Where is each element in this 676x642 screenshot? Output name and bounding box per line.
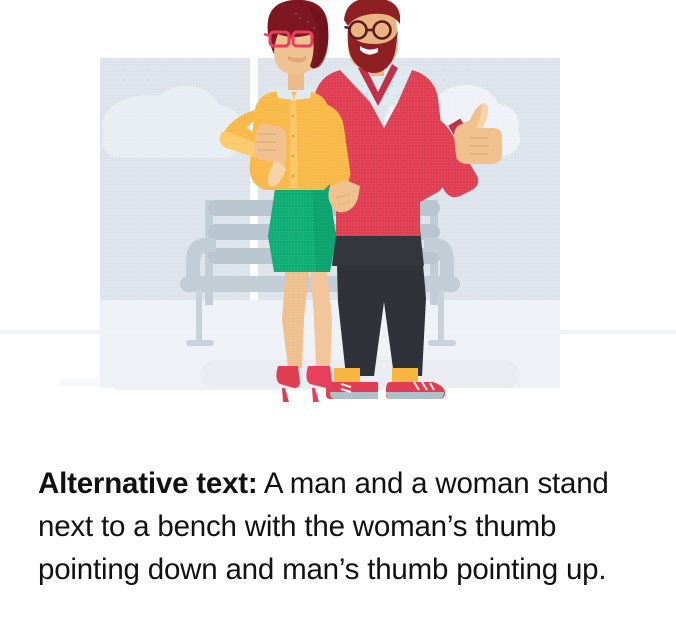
man-head bbox=[344, 0, 400, 73]
page-root: Alternative text: A man and a woman stan… bbox=[0, 0, 676, 642]
ground-texture bbox=[60, 378, 110, 386]
illustration-svg bbox=[0, 0, 676, 415]
alternative-text-caption: Alternative text: A man and a woman stan… bbox=[38, 462, 638, 591]
horizon-line bbox=[0, 330, 676, 334]
alternative-text-label: Alternative text: bbox=[38, 467, 258, 500]
illustration-container bbox=[0, 0, 676, 415]
